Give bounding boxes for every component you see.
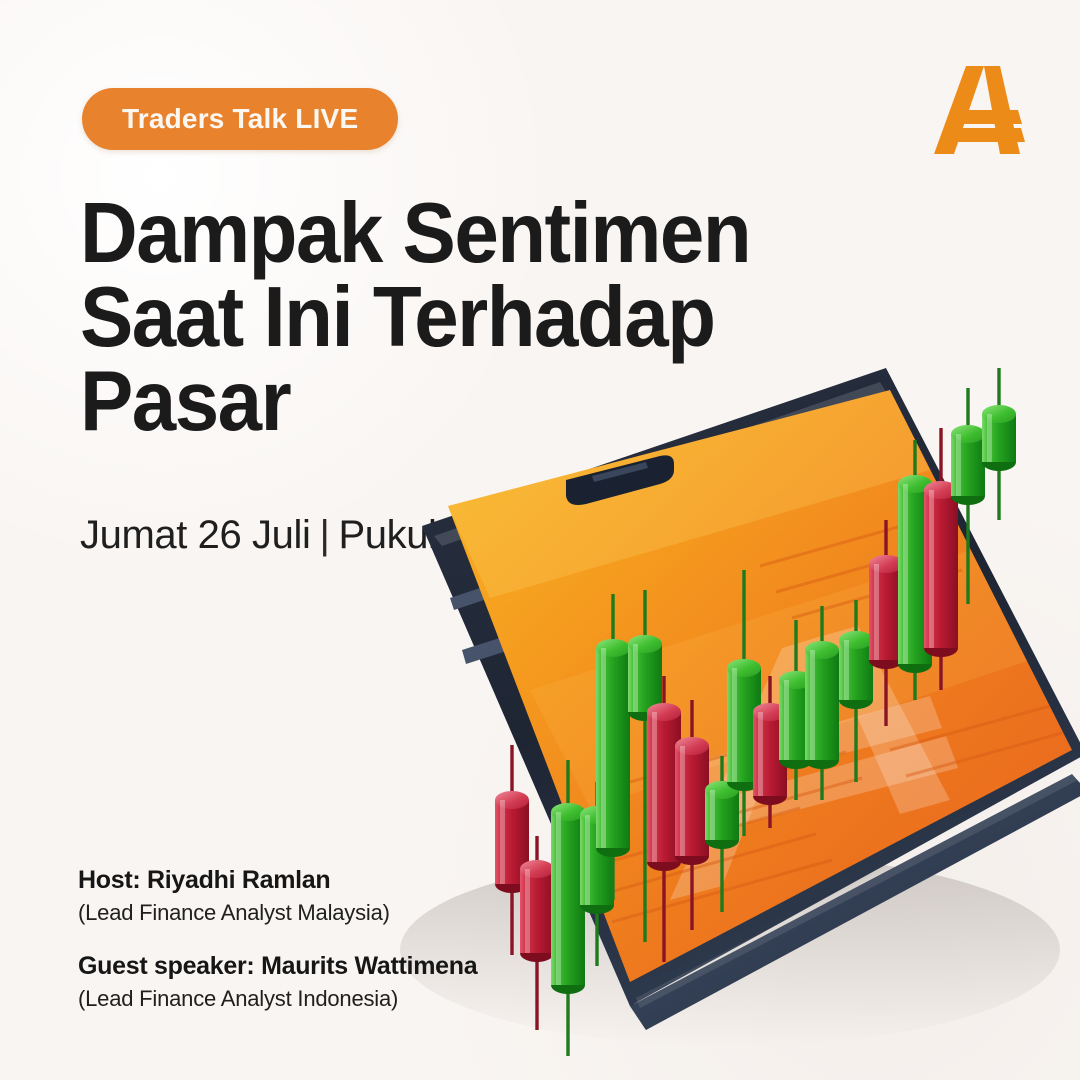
guest-role: (Lead Finance Analyst Indonesia)	[78, 986, 477, 1012]
host-role: (Lead Finance Analyst Malaysia)	[78, 900, 477, 926]
brand-logo	[928, 58, 1032, 162]
guest-name: Guest speaker: Maurits Wattimena	[78, 952, 477, 981]
credit-host: Host: Riyadhi Ramlan (Lead Finance Analy…	[78, 866, 477, 926]
event-date: Jumat 26 Juli	[80, 513, 310, 557]
host-name: Host: Riyadhi Ramlan	[78, 866, 477, 895]
poster-canvas: Traders Talk LIVE Dampak Sentimen Saat I…	[0, 0, 1080, 1080]
credits-block: Host: Riyadhi Ramlan (Lead Finance Analy…	[78, 866, 477, 1038]
letter-a-currency-logo-icon	[928, 58, 1032, 162]
credit-guest: Guest speaker: Maurits Wattimena (Lead F…	[78, 952, 477, 1012]
title-line-1: Dampak Sentimen	[80, 192, 776, 276]
live-badge[interactable]: Traders Talk LIVE	[82, 88, 398, 150]
live-badge-label: Traders Talk LIVE	[122, 103, 358, 135]
